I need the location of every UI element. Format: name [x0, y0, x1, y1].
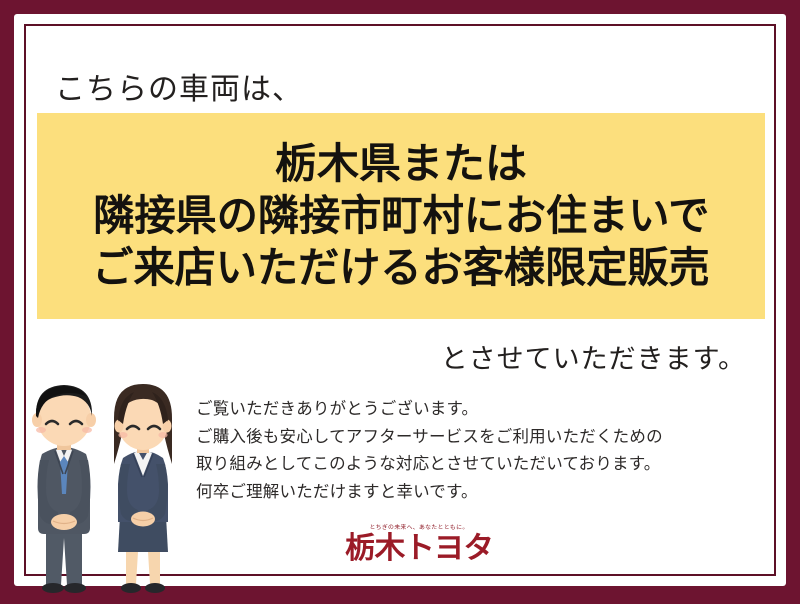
page-title: こちらの車両は、 — [55, 64, 303, 108]
male-staff-figure — [32, 385, 96, 593]
closing-statement: とさせていただきます。 — [441, 337, 746, 376]
body-line-2: ご購入後も安心してアフターサービスをご利用いただくための — [196, 424, 663, 452]
bowing-staff-illustration — [22, 376, 194, 604]
logo-wordmark: 栃木トヨタ — [317, 534, 521, 564]
body-line-4: 何卒ご理解いただけますと幸いです。 — [196, 479, 663, 507]
dealer-logo: とちぎの未来へ、あなたとともに。 栃木トヨタ — [319, 526, 519, 564]
highlight-line-3: ご来店いただけるお客様限定販売 — [92, 244, 709, 292]
body-line-3: 取り組みとしてこのような対応とさせていただいております。 — [196, 451, 663, 479]
female-staff-figure — [114, 384, 172, 593]
highlight-line-2: 隣接県の隣接市町村にお住まいで — [93, 192, 709, 240]
highlight-line-1: 栃木県または — [275, 140, 527, 188]
body-paragraph: ご覧いただきありがとうございます。 ご購入後も安心してアフターサービスをご利用い… — [196, 396, 663, 507]
notice-poster: こちらの車両は、 栃木県または 隣接県の隣接市町村にお住まいで ご来店いただける… — [0, 0, 800, 600]
body-line-1: ご覧いただきありがとうございます。 — [196, 396, 663, 424]
highlight-band: 栃木県または 隣接県の隣接市町村にお住まいで ご来店いただけるお客様限定販売 — [37, 113, 765, 319]
poster-card: こちらの車両は、 栃木県または 隣接県の隣接市町村にお住まいで ご来店いただける… — [14, 14, 786, 586]
